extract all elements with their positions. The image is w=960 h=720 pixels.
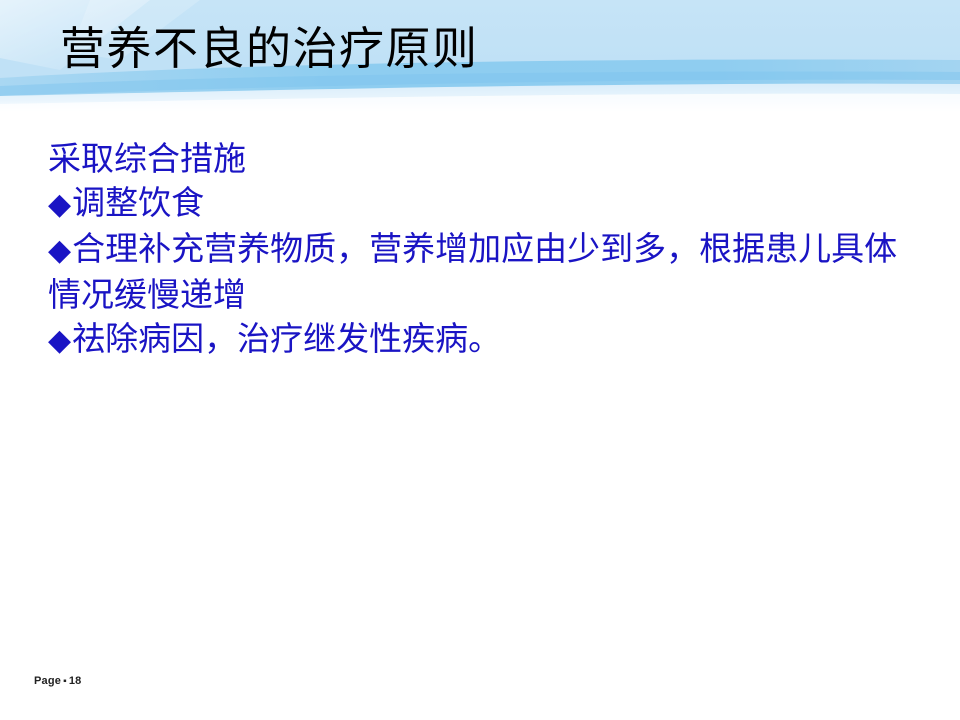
slide-header-banner: 营养不良的治疗原则 (0, 0, 960, 112)
body-line-text: 采取综合措施 (48, 139, 246, 178)
diamond-bullet-icon: ◆ (48, 187, 72, 222)
page-footer: Page▪18 (34, 674, 81, 689)
body-line: ◆祛除病因，治疗继发性疾病。 (48, 317, 916, 363)
body-line-text: 合理补充营养物质，营养增加应由少到多，根据患儿具体情况缓慢递增 (48, 229, 897, 314)
body-line-text: 祛除病因，治疗继发性疾病。 (72, 319, 501, 358)
slide-body-content: 采取综合措施 ◆调整饮食 ◆合理补充营养物质，营养增加应由少到多，根据患儿具体情… (48, 137, 916, 363)
diamond-bullet-icon: ◆ (48, 233, 72, 268)
page-footer-label: Page (34, 675, 61, 687)
slide: 营养不良的治疗原则 采取综合措施 ◆调整饮食 ◆合理补充营养物质，营养增加应由少… (0, 0, 960, 720)
body-line-text: 调整饮食 (72, 183, 204, 222)
body-line: 采取综合措施 (48, 137, 916, 181)
body-line: ◆调整饮食 (48, 181, 916, 227)
page-number: 18 (69, 675, 82, 687)
diamond-bullet-icon: ◆ (48, 323, 72, 358)
page-title: 营养不良的治疗原则 (60, 20, 920, 78)
body-line: ◆合理补充营养物质，营养增加应由少到多，根据患儿具体情况缓慢递增 (48, 227, 916, 317)
page-footer-separator-icon: ▪ (61, 676, 69, 687)
